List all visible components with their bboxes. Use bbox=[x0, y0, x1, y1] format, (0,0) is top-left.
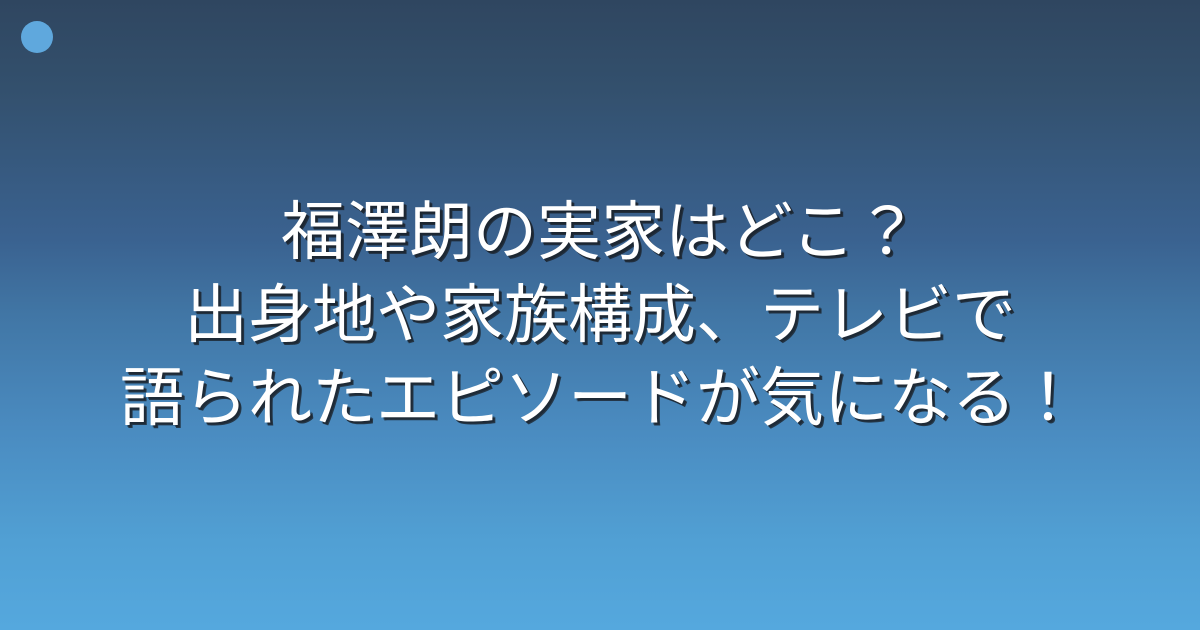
title-line-3: 語られたエピソードが気になる！ bbox=[26, 357, 1174, 440]
title-line-1: 福澤朗の実家はどこ？ bbox=[26, 191, 1174, 274]
title-line-2: 出身地や家族構成、テレビで bbox=[26, 274, 1174, 357]
headline-block: 福澤朗の実家はどこ？ 出身地や家族構成、テレビで 語られたエピソードが気になる！ bbox=[0, 0, 1200, 630]
page-title: 福澤朗の実家はどこ？ 出身地や家族構成、テレビで 語られたエピソードが気になる！ bbox=[26, 191, 1174, 440]
og-card: 福澤朗の実家はどこ？ 出身地や家族構成、テレビで 語られたエピソードが気になる！ bbox=[0, 0, 1200, 630]
